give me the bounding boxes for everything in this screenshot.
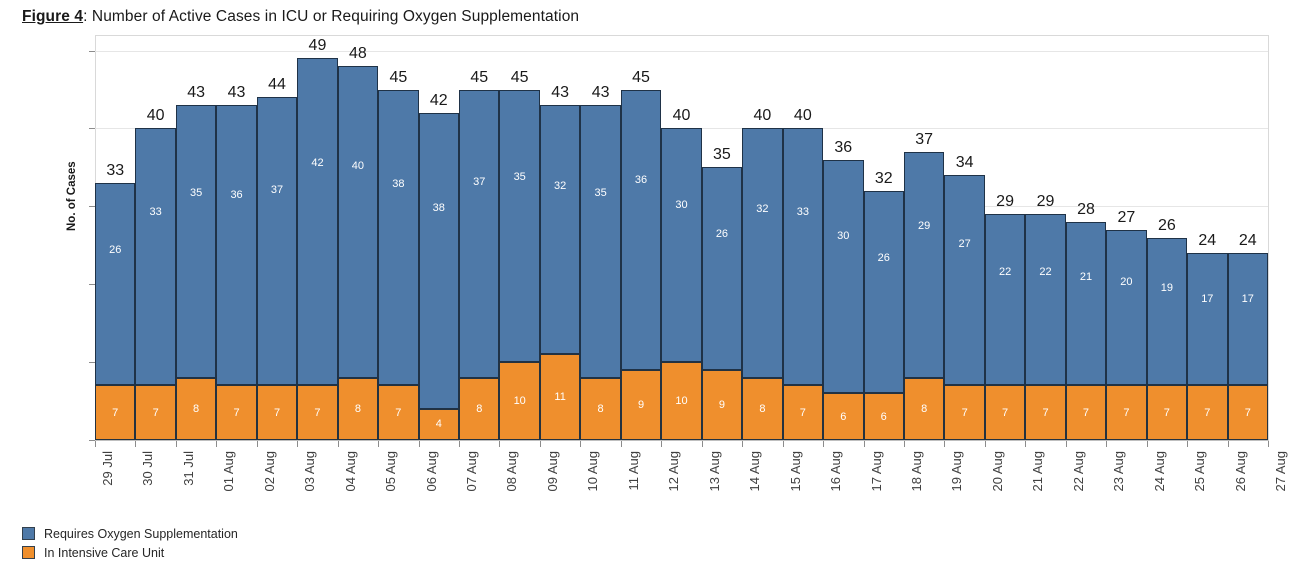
bar-segment-value-oxygen: 38 bbox=[420, 203, 458, 214]
bar-segment-value-icu: 8 bbox=[339, 404, 377, 415]
x-tick-label: 16 Aug bbox=[828, 451, 843, 492]
chart-legend: Requires Oxygen SupplementationIn Intens… bbox=[22, 524, 238, 562]
x-tick-mark bbox=[1106, 441, 1107, 447]
bar-segment-oxygen[interactable]: 35 bbox=[499, 90, 539, 363]
bar-total-label: 35 bbox=[696, 147, 748, 163]
bar-segment-oxygen[interactable]: 26 bbox=[864, 191, 904, 394]
x-tick-label: 12 Aug bbox=[666, 451, 681, 492]
bar-segment-icu[interactable]: 8 bbox=[176, 378, 216, 440]
bar-column[interactable]: 43842 bbox=[419, 113, 459, 440]
bar-segment-value-icu: 10 bbox=[662, 396, 700, 407]
bar-segment-value-oxygen: 35 bbox=[581, 188, 619, 199]
bar-segment-value-oxygen: 17 bbox=[1229, 294, 1267, 305]
x-tick-mark bbox=[1187, 441, 1188, 447]
bar-segment-oxygen[interactable]: 30 bbox=[661, 128, 701, 362]
bar-segment-icu[interactable]: 7 bbox=[1066, 385, 1106, 440]
bar-total-label: 40 bbox=[655, 108, 707, 124]
bar-column[interactable]: 82937 bbox=[904, 152, 944, 440]
bar-segment-oxygen[interactable]: 26 bbox=[702, 167, 742, 370]
bar-total-label: 26 bbox=[1141, 218, 1193, 234]
bar-segment-value-icu: 10 bbox=[500, 396, 538, 407]
bar-segment-oxygen[interactable]: 35 bbox=[580, 105, 620, 378]
bar-segment-value-icu: 7 bbox=[298, 408, 336, 419]
bar-segment-value-oxygen: 40 bbox=[339, 161, 377, 172]
bar-segment-value-oxygen: 17 bbox=[1188, 294, 1226, 305]
bar-column[interactable]: 83543 bbox=[176, 105, 216, 440]
bar-segment-oxygen[interactable]: 33 bbox=[783, 128, 823, 385]
bar-segment-oxygen[interactable]: 32 bbox=[540, 105, 580, 354]
bar-segment-value-oxygen: 19 bbox=[1148, 283, 1186, 294]
bar-column[interactable]: 73340 bbox=[783, 128, 823, 440]
bar-segment-icu[interactable]: 8 bbox=[338, 378, 378, 440]
bar-segment-oxygen[interactable]: 30 bbox=[823, 160, 863, 394]
bar-segment-oxygen[interactable]: 22 bbox=[1025, 214, 1065, 385]
y-tick-mark bbox=[89, 128, 95, 129]
x-tick-mark bbox=[135, 441, 136, 447]
legend-swatch-icon bbox=[22, 527, 35, 540]
bar-segment-value-icu: 7 bbox=[1188, 408, 1226, 419]
x-tick-mark bbox=[1066, 441, 1067, 447]
x-tick-label: 31 Jul bbox=[181, 451, 196, 486]
bar-segment-icu[interactable]: 7 bbox=[257, 385, 297, 440]
bar-column[interactable]: 103040 bbox=[661, 128, 701, 440]
bar-segment-icu[interactable]: 6 bbox=[823, 393, 863, 440]
bar-segment-value-icu: 7 bbox=[96, 408, 134, 419]
x-tick-label: 06 Aug bbox=[424, 451, 439, 492]
x-tick-label: 25 Aug bbox=[1192, 451, 1207, 492]
bar-column[interactable]: 72734 bbox=[944, 175, 984, 440]
bar-segment-value-oxygen: 26 bbox=[703, 229, 741, 240]
bar-column[interactable]: 73744 bbox=[257, 97, 297, 440]
bar-segment-value-icu: 7 bbox=[258, 408, 296, 419]
bar-segment-icu[interactable]: 7 bbox=[135, 385, 175, 440]
x-tick-mark bbox=[257, 441, 258, 447]
bar-segment-value-oxygen: 20 bbox=[1107, 277, 1145, 288]
x-tick-mark bbox=[459, 441, 460, 447]
x-tick-mark bbox=[540, 441, 541, 447]
x-tick-label: 08 Aug bbox=[504, 451, 519, 492]
bar-segment-value-icu: 8 bbox=[581, 404, 619, 415]
bar-segment-icu[interactable]: 7 bbox=[95, 385, 135, 440]
bar-segment-value-icu: 7 bbox=[1229, 408, 1267, 419]
bar-total-label: 44 bbox=[251, 77, 303, 93]
bar-column[interactable]: 71724 bbox=[1228, 253, 1268, 440]
bar-total-label: 45 bbox=[372, 70, 424, 86]
bar-segment-icu[interactable]: 8 bbox=[459, 378, 499, 440]
bar-segment-icu[interactable]: 7 bbox=[378, 385, 418, 440]
bar-segment-value-oxygen: 26 bbox=[96, 245, 134, 256]
bar-segment-oxygen[interactable]: 35 bbox=[176, 105, 216, 378]
x-tick-mark bbox=[621, 441, 622, 447]
bar-segment-value-icu: 7 bbox=[1067, 408, 1105, 419]
bar-segment-icu[interactable]: 7 bbox=[1106, 385, 1146, 440]
bar-segment-value-oxygen: 22 bbox=[1026, 267, 1064, 278]
bar-total-label: 34 bbox=[938, 155, 990, 171]
bar-total-label: 45 bbox=[493, 70, 545, 86]
x-tick-mark bbox=[1147, 441, 1148, 447]
x-tick-mark bbox=[176, 441, 177, 447]
bar-segment-value-icu: 7 bbox=[784, 408, 822, 419]
bar-segment-value-icu: 11 bbox=[541, 392, 579, 403]
bar-segment-value-oxygen: 30 bbox=[662, 200, 700, 211]
x-tick-mark bbox=[378, 441, 379, 447]
x-tick-label: 29 Jul bbox=[100, 451, 115, 486]
bar-column[interactable]: 103545 bbox=[499, 90, 539, 440]
x-tick-label: 24 Aug bbox=[1152, 451, 1167, 492]
bar-segment-value-oxygen: 36 bbox=[622, 175, 660, 186]
bar-column[interactable]: 63036 bbox=[823, 160, 863, 440]
bar-total-label: 33 bbox=[89, 163, 141, 179]
bar-segment-icu[interactable]: 11 bbox=[540, 354, 580, 440]
bar-segment-icu[interactable]: 7 bbox=[1228, 385, 1268, 440]
bar-column[interactable]: 74249 bbox=[297, 58, 337, 440]
bar-segment-value-oxygen: 35 bbox=[500, 172, 538, 183]
bar-segment-value-oxygen: 33 bbox=[784, 207, 822, 218]
bar-total-label: 36 bbox=[817, 140, 869, 156]
bar-segment-value-icu: 8 bbox=[905, 404, 943, 415]
x-tick-label: 27 Aug bbox=[1273, 451, 1288, 492]
bar-segment-icu[interactable]: 7 bbox=[1147, 385, 1187, 440]
bar-column[interactable]: 83240 bbox=[742, 128, 782, 440]
bar-column[interactable]: 72128 bbox=[1066, 222, 1106, 440]
bar-segment-icu[interactable]: 8 bbox=[742, 378, 782, 440]
x-tick-label: 03 Aug bbox=[302, 451, 317, 492]
bar-column[interactable]: 113243 bbox=[540, 105, 580, 440]
bar-segment-icu[interactable]: 7 bbox=[1025, 385, 1065, 440]
bar-column[interactable]: 73340 bbox=[135, 128, 175, 440]
x-tick-label: 05 Aug bbox=[383, 451, 398, 492]
page-title: Figure 4: Number of Active Cases in ICU … bbox=[22, 8, 579, 26]
bar-column[interactable]: 72027 bbox=[1106, 230, 1146, 440]
bar-segment-icu[interactable]: 10 bbox=[661, 362, 701, 440]
x-tick-label: 30 Jul bbox=[140, 451, 155, 486]
bar-segment-value-icu: 7 bbox=[379, 408, 417, 419]
x-tick-label: 19 Aug bbox=[949, 451, 964, 492]
bar-segment-value-oxygen: 42 bbox=[298, 158, 336, 169]
bar-segment-oxygen[interactable]: 36 bbox=[216, 105, 256, 385]
x-tick-mark bbox=[823, 441, 824, 447]
bar-segment-icu[interactable]: 7 bbox=[985, 385, 1025, 440]
legend-label: Requires Oxygen Supplementation bbox=[44, 527, 238, 541]
bar-segment-value-oxygen: 36 bbox=[217, 190, 255, 201]
bar-segment-value-icu: 7 bbox=[986, 408, 1024, 419]
bar-segment-oxygen[interactable]: 42 bbox=[297, 58, 337, 385]
x-tick-label: 04 Aug bbox=[343, 451, 358, 492]
legend-swatch-icon bbox=[22, 546, 35, 559]
bar-total-label: 37 bbox=[898, 132, 950, 148]
bar-segment-value-oxygen: 33 bbox=[136, 207, 174, 218]
bar-segment-value-oxygen: 21 bbox=[1067, 272, 1105, 283]
bar-segment-icu[interactable]: 8 bbox=[904, 378, 944, 440]
bar-total-label: 32 bbox=[858, 171, 910, 187]
bar-segment-oxygen[interactable]: 38 bbox=[378, 90, 418, 386]
bar-segment-value-icu: 7 bbox=[1026, 408, 1064, 419]
x-tick-label: 07 Aug bbox=[464, 451, 479, 492]
bar-column[interactable]: 92635 bbox=[702, 167, 742, 440]
bar-column[interactable]: 72633 bbox=[95, 183, 135, 440]
x-tick-mark bbox=[338, 441, 339, 447]
x-tick-mark bbox=[1268, 441, 1269, 447]
legend-item[interactable]: In Intensive Care Unit bbox=[22, 543, 238, 562]
x-tick-label: 09 Aug bbox=[545, 451, 560, 492]
x-tick-mark bbox=[783, 441, 784, 447]
bar-segment-value-icu: 9 bbox=[622, 400, 660, 411]
y-tick-mark bbox=[89, 51, 95, 52]
bar-segment-icu[interactable]: 7 bbox=[297, 385, 337, 440]
x-tick-mark bbox=[95, 441, 96, 447]
bar-segment-icu[interactable]: 7 bbox=[1187, 385, 1227, 440]
x-tick-mark bbox=[944, 441, 945, 447]
x-tick-label: 10 Aug bbox=[585, 451, 600, 492]
bar-segment-icu[interactable]: 8 bbox=[580, 378, 620, 440]
x-tick-mark bbox=[702, 441, 703, 447]
bar-segment-value-oxygen: 27 bbox=[945, 239, 983, 250]
bar-total-label: 40 bbox=[129, 108, 181, 124]
x-tick-label: 21 Aug bbox=[1030, 451, 1045, 492]
bar-column[interactable]: 72229 bbox=[985, 214, 1025, 440]
bar-segment-value-icu: 6 bbox=[865, 412, 903, 423]
bar-segment-oxygen[interactable]: 17 bbox=[1228, 253, 1268, 385]
bar-segment-value-oxygen: 26 bbox=[865, 253, 903, 264]
x-tick-label: 23 Aug bbox=[1111, 451, 1126, 492]
bar-segment-icu[interactable]: 9 bbox=[621, 370, 661, 440]
x-tick-mark bbox=[580, 441, 581, 447]
bar-segment-oxygen[interactable]: 32 bbox=[742, 128, 782, 377]
figure-title-text: : Number of Active Cases in ICU or Requi… bbox=[83, 8, 579, 25]
bar-segment-value-oxygen: 37 bbox=[460, 177, 498, 188]
bar-segment-oxygen[interactable]: 19 bbox=[1147, 238, 1187, 386]
bar-segment-oxygen[interactable]: 26 bbox=[95, 183, 135, 386]
bar-segment-value-oxygen: 38 bbox=[379, 179, 417, 190]
bar-segment-oxygen[interactable]: 38 bbox=[419, 113, 459, 409]
x-tick-mark bbox=[1228, 441, 1229, 447]
x-tick-mark bbox=[904, 441, 905, 447]
y-axis-title: No. of Cases bbox=[66, 161, 78, 231]
bar-segment-value-oxygen: 29 bbox=[905, 221, 943, 232]
bar-segment-oxygen[interactable]: 29 bbox=[904, 152, 944, 378]
x-tick-label: 17 Aug bbox=[869, 451, 884, 492]
bar-segment-icu[interactable]: 4 bbox=[419, 409, 459, 440]
bar-total-label: 43 bbox=[574, 85, 626, 101]
bar-segment-value-icu: 7 bbox=[136, 408, 174, 419]
x-tick-label: 01 Aug bbox=[221, 451, 236, 492]
bar-total-label: 48 bbox=[332, 46, 384, 62]
bar-segment-oxygen[interactable]: 21 bbox=[1066, 222, 1106, 386]
x-tick-label: 26 Aug bbox=[1233, 451, 1248, 492]
bar-column[interactable]: 62632 bbox=[864, 191, 904, 440]
x-tick-label: 14 Aug bbox=[747, 451, 762, 492]
bar-segment-value-oxygen: 37 bbox=[258, 185, 296, 196]
bar-segment-value-oxygen: 22 bbox=[986, 267, 1024, 278]
x-tick-mark bbox=[419, 441, 420, 447]
bar-segment-value-oxygen: 32 bbox=[541, 181, 579, 192]
x-tick-mark bbox=[742, 441, 743, 447]
bar-segment-icu[interactable]: 9 bbox=[702, 370, 742, 440]
bar-segment-value-icu: 7 bbox=[945, 408, 983, 419]
x-tick-mark bbox=[864, 441, 865, 447]
x-tick-label: 13 Aug bbox=[707, 451, 722, 492]
bar-segment-oxygen[interactable]: 36 bbox=[621, 90, 661, 370]
x-tick-label: 22 Aug bbox=[1071, 451, 1086, 492]
bar-segment-value-icu: 7 bbox=[217, 408, 255, 419]
bar-column[interactable]: 93645 bbox=[621, 90, 661, 440]
bar-segment-icu[interactable]: 7 bbox=[944, 385, 984, 440]
bar-segment-value-oxygen: 35 bbox=[177, 188, 215, 199]
x-tick-label: 18 Aug bbox=[909, 451, 924, 492]
bar-segment-value-icu: 6 bbox=[824, 412, 862, 423]
bar-column[interactable]: 83745 bbox=[459, 90, 499, 440]
bar-total-label: 24 bbox=[1222, 233, 1274, 249]
bar-segment-value-icu: 8 bbox=[743, 404, 781, 415]
stacked-bar-chart: No. of Cases 01020304050 726337334083543… bbox=[95, 35, 1268, 440]
bar-segment-oxygen[interactable]: 33 bbox=[135, 128, 175, 385]
bar-total-label: 45 bbox=[615, 70, 667, 86]
bar-segment-icu[interactable]: 7 bbox=[783, 385, 823, 440]
bar-total-label: 42 bbox=[413, 93, 465, 109]
bar-column[interactable]: 73643 bbox=[216, 105, 256, 440]
bar-column[interactable]: 73845 bbox=[378, 90, 418, 440]
bar-segment-oxygen[interactable]: 20 bbox=[1106, 230, 1146, 386]
bar-segment-value-oxygen: 32 bbox=[743, 204, 781, 215]
bar-segment-value-oxygen: 30 bbox=[824, 231, 862, 242]
x-tick-label: 15 Aug bbox=[788, 451, 803, 492]
bar-segment-value-icu: 8 bbox=[177, 404, 215, 415]
x-tick-mark bbox=[985, 441, 986, 447]
bar-segment-oxygen[interactable]: 17 bbox=[1187, 253, 1227, 385]
x-tick-mark bbox=[216, 441, 217, 447]
x-tick-label: 02 Aug bbox=[262, 451, 277, 492]
bar-segment-value-icu: 9 bbox=[703, 400, 741, 411]
x-tick-label: 11 Aug bbox=[626, 451, 641, 491]
x-tick-mark bbox=[661, 441, 662, 447]
bar-segment-value-icu: 7 bbox=[1107, 408, 1145, 419]
bar-total-label: 40 bbox=[777, 108, 829, 124]
bar-segment-oxygen[interactable]: 40 bbox=[338, 66, 378, 378]
bar-column[interactable]: 83543 bbox=[580, 105, 620, 440]
legend-label: In Intensive Care Unit bbox=[44, 546, 164, 560]
bar-segment-icu[interactable]: 10 bbox=[499, 362, 539, 440]
bar-column[interactable]: 71926 bbox=[1147, 238, 1187, 441]
x-tick-mark bbox=[1025, 441, 1026, 447]
x-tick-mark bbox=[499, 441, 500, 447]
bar-column[interactable]: 84048 bbox=[338, 66, 378, 440]
legend-item[interactable]: Requires Oxygen Supplementation bbox=[22, 524, 238, 543]
bar-column[interactable]: 72229 bbox=[1025, 214, 1065, 440]
bar-column[interactable]: 71724 bbox=[1187, 253, 1227, 440]
gridline bbox=[95, 51, 1268, 52]
x-tick-label: 20 Aug bbox=[990, 451, 1005, 492]
bar-segment-icu[interactable]: 6 bbox=[864, 393, 904, 440]
x-tick-mark bbox=[297, 441, 298, 447]
bar-segment-icu[interactable]: 7 bbox=[216, 385, 256, 440]
bar-segment-value-icu: 8 bbox=[460, 404, 498, 415]
figure-label: Figure 4 bbox=[22, 8, 83, 25]
bar-segment-oxygen[interactable]: 37 bbox=[459, 90, 499, 378]
bar-segment-oxygen[interactable]: 37 bbox=[257, 97, 297, 385]
bar-segment-value-icu: 4 bbox=[420, 419, 458, 430]
bar-segment-oxygen[interactable]: 22 bbox=[985, 214, 1025, 385]
bar-segment-value-icu: 7 bbox=[1148, 408, 1186, 419]
